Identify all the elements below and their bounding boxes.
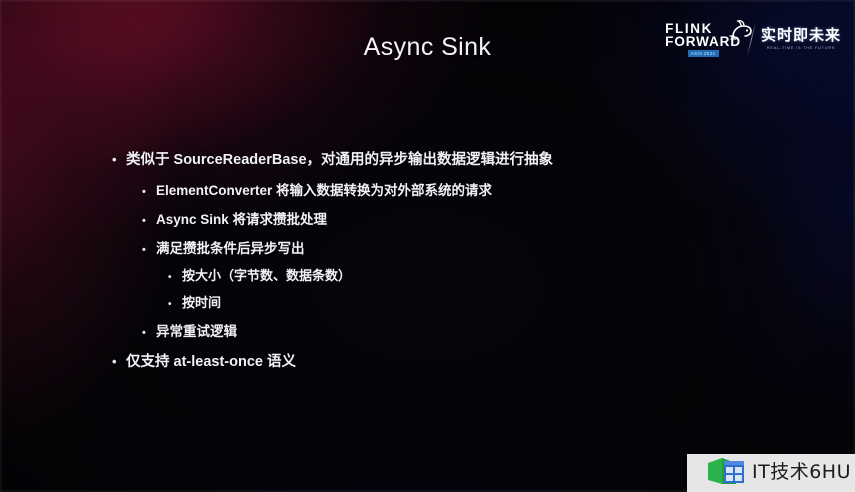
bullet-marker-icon: • <box>168 300 182 310</box>
bullet-item: •按大小（字节数、数据条数） <box>168 261 752 288</box>
bullet-item: •类似于 SourceReaderBase，对通用的异步输出数据逻辑进行抽象 <box>112 142 752 174</box>
bullet-marker-icon: • <box>142 216 156 227</box>
bullet-text: 满足攒批条件后异步写出 <box>156 237 305 257</box>
logo-line-flink: FLINK <box>665 22 713 35</box>
logo-wordmark: FLINK FORWARD ASIA 2021 <box>665 22 749 57</box>
flink-forward-logo: FLINK FORWARD ASIA 2021 实时即未来 REAL-TIME … <box>665 18 841 60</box>
bullet-text: 仅支持 at-least-once 语义 <box>126 350 296 371</box>
bullet-item: •满足攒批条件后异步写出 <box>142 232 752 261</box>
bullet-text: 类似于 SourceReaderBase，对通用的异步输出数据逻辑进行抽象 <box>126 148 553 169</box>
bullet-text: 按大小（字节数、数据条数） <box>182 265 351 284</box>
bullet-text: 按时间 <box>182 292 221 311</box>
folder-window-icon <box>706 454 748 490</box>
logo-chinese-subtitle: REAL-TIME IS THE FUTURE <box>767 45 836 50</box>
bullet-marker-icon: • <box>168 273 182 283</box>
squirrel-icon <box>727 18 753 42</box>
bullet-item: •异常重试逻辑 <box>142 315 752 344</box>
bullet-marker-icon: • <box>142 187 156 198</box>
bullet-marker-icon: • <box>112 153 126 166</box>
bullet-item: •ElementConverter 将输入数据转换为对外部系统的请求 <box>142 174 752 203</box>
bullet-item: •Async Sink 将请求攒批处理 <box>142 203 752 232</box>
logo-chinese-lockup: 实时即未来 REAL-TIME IS THE FUTURE <box>761 28 841 50</box>
watermark: IT技术6HU <box>706 454 851 490</box>
bullet-list: •类似于 SourceReaderBase，对通用的异步输出数据逻辑进行抽象•E… <box>112 142 752 376</box>
bullet-marker-icon: • <box>142 245 156 256</box>
watermark-text: IT技术6HU <box>752 462 851 482</box>
logo-badge: ASIA 2021 <box>688 50 719 57</box>
bullet-item: •按时间 <box>168 288 752 315</box>
bullet-marker-icon: • <box>142 328 156 339</box>
bullet-text: 异常重试逻辑 <box>156 320 237 340</box>
bullet-text: Async Sink 将请求攒批处理 <box>156 208 327 228</box>
bullet-marker-icon: • <box>112 355 126 368</box>
logo-chinese-title: 实时即未来 <box>761 28 841 43</box>
presentation-slide: Async Sink FLINK FORWARD ASIA 2021 实时即未来… <box>0 0 855 492</box>
bullet-text: ElementConverter 将输入数据转换为对外部系统的请求 <box>156 179 492 199</box>
bullet-item: •仅支持 at-least-once 语义 <box>112 344 752 376</box>
